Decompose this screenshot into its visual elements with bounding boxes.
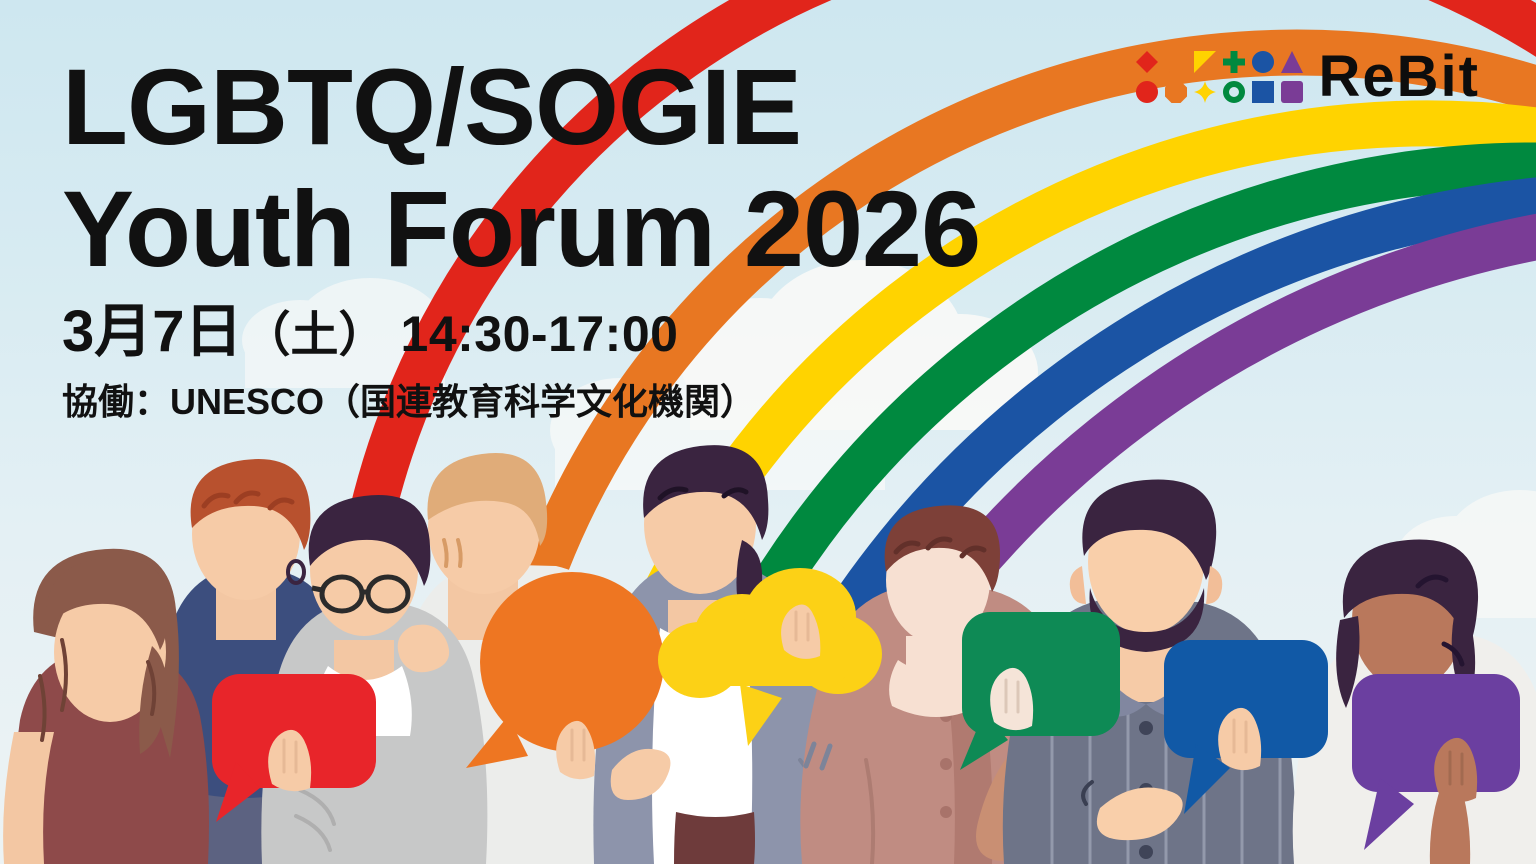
star-four-mark: [1194, 81, 1216, 103]
cross-mark: [1223, 51, 1245, 73]
poster-title-line-1: LGBTQ/SOGIE: [62, 52, 1082, 162]
rebit-logo-marks: [1134, 49, 1305, 105]
octagon-mark: [1165, 81, 1187, 103]
poster-canvas: LGBTQ/SOGIE Youth Forum 2026 3月7日（土）14:3…: [0, 0, 1536, 864]
triangle-mark: [1281, 51, 1303, 73]
headline-block: LGBTQ/SOGIE Youth Forum 2026 3月7日（土）14:3…: [62, 52, 1082, 425]
poster-date-line: 3月7日（土）14:30-17:00: [62, 302, 1082, 363]
partner-line: 協働：UNESCO（国連教育科学文化機関）: [62, 373, 1082, 425]
date-weekday: （土）: [243, 309, 387, 362]
diamond-mark: [1136, 51, 1158, 73]
poster-title-line-2: Youth Forum 2026: [62, 174, 1082, 284]
time-range: 14:30-17:00: [401, 306, 679, 362]
triangle-corner-mark: [1194, 51, 1216, 73]
rebit-logo: ReBit: [1134, 48, 1480, 106]
person-long-hair-maroon-top: [3, 549, 209, 864]
circle-mark: [1252, 51, 1274, 73]
date-month-day: 3月7日: [62, 299, 243, 364]
dot-mark: [1136, 81, 1158, 103]
star-five-mark: [1165, 51, 1187, 73]
donut-mark: [1223, 81, 1245, 103]
rounded-square-mark: [1281, 81, 1303, 103]
rebit-wordmark: ReBit: [1319, 48, 1480, 106]
square-mark: [1252, 81, 1274, 103]
